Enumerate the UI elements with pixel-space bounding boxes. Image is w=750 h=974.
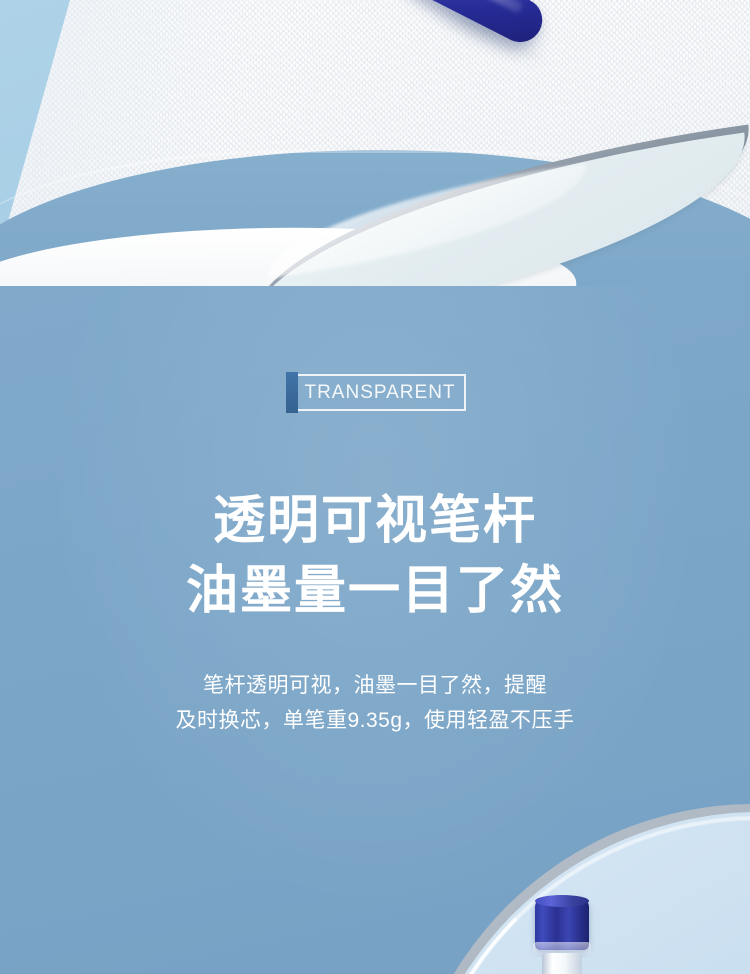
body-copy: 笔杆透明可视，油墨一目了然，提醒 及时换芯，单笔重9.35g，使用轻盈不压手 [0,668,750,738]
headline: 透明可视笔杆 油墨量一目了然 [0,486,750,626]
body-copy-line-2: 及时换芯，单笔重9.35g，使用轻盈不压手 [0,703,750,738]
top-photo-section [0,0,750,300]
headline-line-2: 油墨量一目了然 [0,556,750,626]
headline-line-1: 透明可视笔杆 [0,486,750,556]
pen-push-button-top [535,895,589,907]
bottom-scene [0,780,750,974]
body-copy-line-1: 笔杆透明可视，油墨一目了然，提醒 [0,668,750,703]
product-poster: TRANSPARENT 透明可视笔杆 油墨量一目了然 笔杆透明可视，油墨一目了然… [0,0,750,974]
transparent-badge-label: TRANSPARENT [288,374,466,411]
pen-barrel [542,953,582,974]
bottom-pen [531,898,593,974]
